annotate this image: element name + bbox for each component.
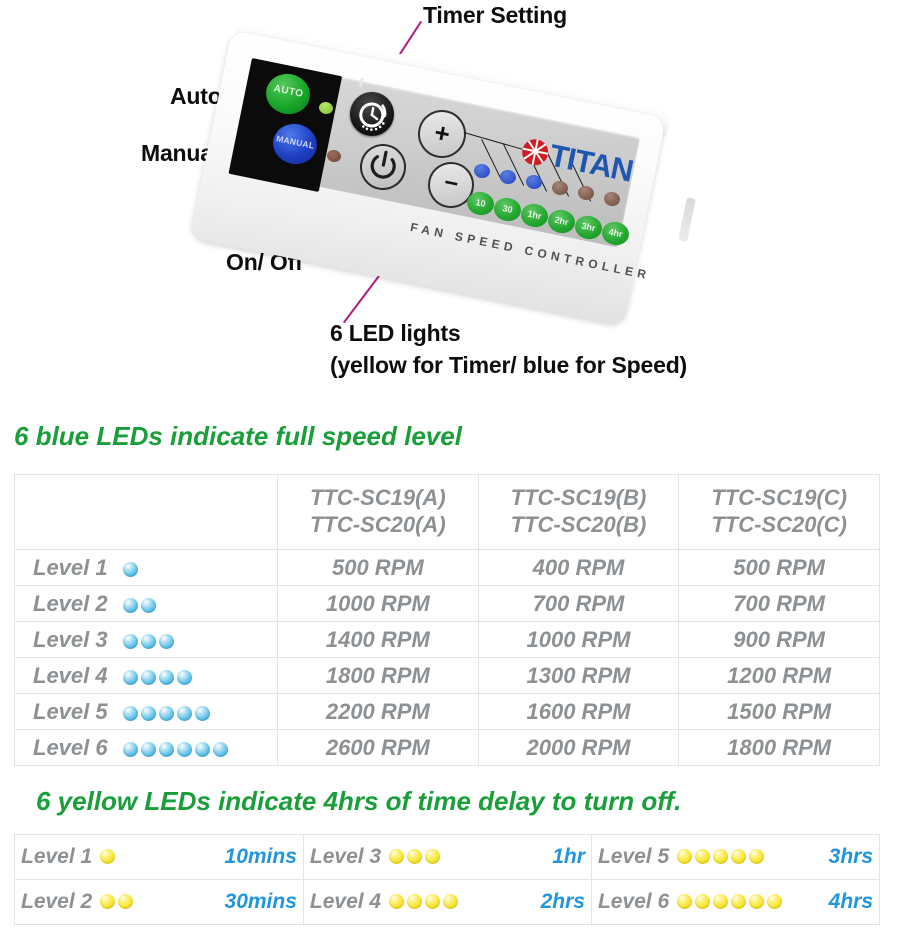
timer-cell: Level 3 1hr xyxy=(303,835,591,880)
led-dot xyxy=(731,849,746,864)
led-dot xyxy=(141,598,156,613)
level-cell: Level 1 xyxy=(15,550,278,586)
header-c-line1: TTC-SC19(C) xyxy=(679,485,879,512)
timer-cell: Level 4 2hrs xyxy=(303,880,591,925)
led-dot xyxy=(177,670,192,685)
timer-cell: Level 5 3hrs xyxy=(591,835,879,880)
header-a-line2: TTC-SC20(A) xyxy=(278,512,478,539)
auto-button-label: AUTO xyxy=(266,82,311,102)
led-dot xyxy=(713,894,728,909)
led-dot xyxy=(195,742,210,757)
led-dot xyxy=(749,849,764,864)
table-row: Level 3 1400 RPM 1000 RPM 900 RPM xyxy=(15,622,880,658)
timer-delay-table: Level 1 10mins Level 3 1hr Level 5 3hrs … xyxy=(14,834,880,925)
header-b-line1: TTC-SC19(B) xyxy=(479,485,679,512)
rpm-value-c: 1500 RPM xyxy=(679,694,880,730)
blue-led-group xyxy=(123,699,213,725)
level-label: Level 1 xyxy=(21,845,92,869)
clock-icon xyxy=(346,88,398,140)
yellow-led-group xyxy=(389,848,443,866)
rpm-value-b: 1600 RPM xyxy=(478,694,679,730)
callout-6-led-lights: 6 LED lights xyxy=(330,320,461,347)
fan-speed-controller-device: AUTO MANUAL xyxy=(232,22,710,322)
product-diagram: Auto Manual Timer Setting On/ Off 6 LED … xyxy=(0,0,897,400)
led-dot xyxy=(389,849,404,864)
level-label: Level 3 xyxy=(310,845,381,869)
rpm-value-a: 1800 RPM xyxy=(278,658,479,694)
header-a-line1: TTC-SC19(A) xyxy=(278,485,478,512)
level-cell: Level 4 xyxy=(15,658,278,694)
blue-led-group xyxy=(123,663,195,689)
header-b-line2: TTC-SC20(B) xyxy=(479,512,679,539)
yellow-led-group xyxy=(677,893,785,911)
level-cell: Level 2 xyxy=(15,586,278,622)
level-label: Level 3 xyxy=(33,627,108,653)
led-dot xyxy=(731,894,746,909)
timer-value: 30mins xyxy=(217,890,297,914)
blue-led-group xyxy=(123,591,159,617)
led-dot xyxy=(159,706,174,721)
rpm-value-a: 2200 RPM xyxy=(278,694,479,730)
rpm-value-a: 500 RPM xyxy=(278,550,479,586)
rpm-value-b: 1000 RPM xyxy=(478,622,679,658)
rpm-value-b: 1300 RPM xyxy=(478,658,679,694)
rpm-value-a: 1000 RPM xyxy=(278,586,479,622)
callout-auto: Auto xyxy=(170,83,222,110)
led-dot xyxy=(389,894,404,909)
level-label: Level 1 xyxy=(33,555,108,581)
blue-led-group xyxy=(123,735,231,761)
rpm-value-c: 900 RPM xyxy=(679,622,880,658)
blue-led-group xyxy=(123,555,141,581)
table-row: Level 2 1000 RPM 700 RPM 700 RPM xyxy=(15,586,880,622)
yellow-led-group xyxy=(100,848,118,866)
timer-cell: Level 6 4hrs xyxy=(591,880,879,925)
table-row: Level 4 1800 RPM 1300 RPM 1200 RPM xyxy=(15,658,880,694)
led-dot xyxy=(695,894,710,909)
table-header-row: TTC-SC19(A) TTC-SC20(A) TTC-SC19(B) TTC-… xyxy=(15,475,880,550)
timer-cell: Level 2 30mins xyxy=(15,880,304,925)
led-dot xyxy=(159,742,174,757)
led-dot xyxy=(123,634,138,649)
led-dot xyxy=(159,634,174,649)
level-label: Level 2 xyxy=(33,591,108,617)
led-dot xyxy=(767,894,782,909)
led-dot xyxy=(141,634,156,649)
led-dot xyxy=(141,742,156,757)
timer-value: 1hr xyxy=(544,845,585,869)
callout-led-colors: (yellow for Timer/ blue for Speed) xyxy=(330,352,687,379)
rpm-value-b: 400 RPM xyxy=(478,550,679,586)
table-row: Level 1 10mins Level 3 1hr Level 5 3hrs xyxy=(15,835,880,880)
rpm-value-a: 1400 RPM xyxy=(278,622,479,658)
led-dot xyxy=(123,742,138,757)
power-icon xyxy=(359,143,406,190)
level-label: Level 4 xyxy=(310,890,381,914)
blue-leds-heading: 6 blue LEDs indicate full speed level xyxy=(14,421,462,452)
rpm-value-c: 1200 RPM xyxy=(679,658,880,694)
rpm-value-b: 700 RPM xyxy=(478,586,679,622)
level-cell: Level 6 xyxy=(15,730,278,766)
device-side-slot xyxy=(678,197,696,242)
header-column-b: TTC-SC19(B) TTC-SC20(B) xyxy=(478,475,679,550)
rpm-value-c: 500 RPM xyxy=(679,550,880,586)
timer-setting-button[interactable] xyxy=(346,88,398,140)
manual-button-label: MANUAL xyxy=(273,133,318,152)
rpm-value-c: 700 RPM xyxy=(679,586,880,622)
led-dot xyxy=(749,894,764,909)
timer-cell: Level 1 10mins xyxy=(15,835,304,880)
led-dot xyxy=(677,894,692,909)
blue-led-group xyxy=(123,627,177,653)
yellow-leds-heading: 6 yellow LEDs indicate 4hrs of time dela… xyxy=(36,786,681,817)
table-row: Level 2 30mins Level 4 2hrs Level 6 4hrs xyxy=(15,880,880,925)
level-label: Level 2 xyxy=(21,890,92,914)
level-cell: Level 3 xyxy=(15,622,278,658)
table-row: Level 5 2200 RPM 1600 RPM 1500 RPM xyxy=(15,694,880,730)
led-dot xyxy=(177,742,192,757)
level-label: Level 5 xyxy=(33,699,108,725)
led-dot xyxy=(123,598,138,613)
led-dot xyxy=(177,706,192,721)
level-label: Level 4 xyxy=(33,663,108,689)
timer-value: 3hrs xyxy=(821,845,873,869)
header-column-c: TTC-SC19(C) TTC-SC20(C) xyxy=(679,475,880,550)
led-dot xyxy=(123,706,138,721)
rpm-value-c: 1800 RPM xyxy=(679,730,880,766)
led-dot xyxy=(123,562,138,577)
led-dot xyxy=(425,894,440,909)
led-dot xyxy=(695,849,710,864)
led-dot xyxy=(195,706,210,721)
led-dot xyxy=(118,894,133,909)
header-column-a: TTC-SC19(A) TTC-SC20(A) xyxy=(278,475,479,550)
table-row: Level 6 2600 RPM 2000 RPM 1800 RPM xyxy=(15,730,880,766)
timer-value: 2hrs xyxy=(533,890,585,914)
level-label: Level 6 xyxy=(33,735,108,761)
led-dot xyxy=(141,706,156,721)
header-corner xyxy=(15,475,278,550)
led-dot xyxy=(123,670,138,685)
yellow-led-group xyxy=(389,893,461,911)
level-label: Level 5 xyxy=(598,845,669,869)
speed-level-table: TTC-SC19(A) TTC-SC20(A) TTC-SC19(B) TTC-… xyxy=(14,474,880,766)
titan-fan-icon xyxy=(520,137,551,168)
led-dot xyxy=(425,849,440,864)
led-dot xyxy=(100,894,115,909)
led-dot xyxy=(213,742,228,757)
led-dot xyxy=(141,670,156,685)
led-dot xyxy=(100,849,115,864)
led-dot xyxy=(159,670,174,685)
led-dot xyxy=(407,894,422,909)
led-dot xyxy=(407,849,422,864)
yellow-led-group xyxy=(677,848,767,866)
header-c-line2: TTC-SC20(C) xyxy=(679,512,879,539)
timer-value: 4hrs xyxy=(821,890,873,914)
rpm-value-b: 2000 RPM xyxy=(478,730,679,766)
table-row: Level 1 500 RPM 400 RPM 500 RPM xyxy=(15,550,880,586)
rpm-value-a: 2600 RPM xyxy=(278,730,479,766)
timer-value: 10mins xyxy=(217,845,297,869)
led-dot xyxy=(677,849,692,864)
yellow-led-group xyxy=(100,893,136,911)
level-cell: Level 5 xyxy=(15,694,278,730)
level-label: Level 6 xyxy=(598,890,669,914)
led-dot xyxy=(443,894,458,909)
led-dot xyxy=(713,849,728,864)
